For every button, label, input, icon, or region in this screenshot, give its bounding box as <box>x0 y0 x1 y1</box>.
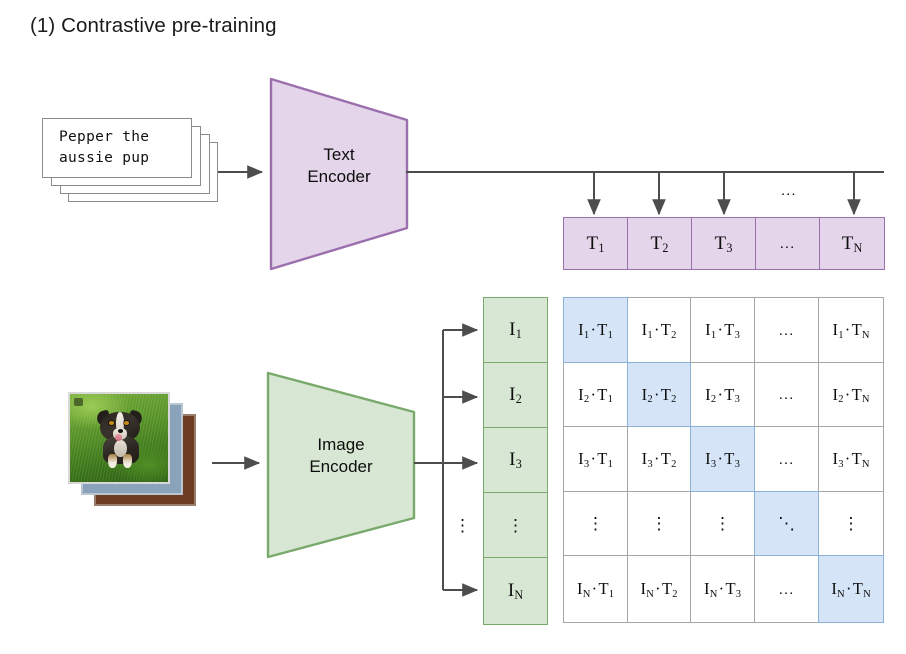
matrix-cell-glyph: ... <box>779 322 795 339</box>
dog-leg-left <box>108 454 117 468</box>
matrix-cell-label: IN·T2 <box>640 579 677 599</box>
matrix-cell-r5-c1[interactable]: IN·T1 <box>563 555 628 623</box>
page-title: (1) Contrastive pre-training <box>30 14 277 38</box>
dog-eye-left <box>109 421 114 425</box>
matrix-cell-glyph: ⋮ <box>587 515 604 532</box>
image-encoder-label: Image Encoder <box>265 434 417 478</box>
text-embedding-label-1: T1 <box>587 233 605 255</box>
matrix-cell-r2-c2[interactable]: I2·T2 <box>627 362 691 427</box>
text-embedding-cell-3[interactable]: T3 <box>691 217 756 270</box>
text-embedding-ellipsis: ... <box>780 235 796 252</box>
photo-corner-shadow <box>74 398 83 406</box>
matrix-cell-label: I2·T3 <box>705 385 740 405</box>
image-embedding-label-n: IN <box>508 580 523 602</box>
image-embedding-cell-3[interactable]: I3 <box>483 427 548 493</box>
matrix-cell-r1-c3[interactable]: I1·T3 <box>690 297 755 363</box>
matrix-cell-r3-c4[interactable]: ... <box>754 426 819 492</box>
dog-nose <box>118 429 123 433</box>
matrix-cell-r4-c1[interactable]: ⋮ <box>563 491 628 556</box>
matrix-cell-label: I1·T1 <box>578 320 613 340</box>
matrix-cell-label: IN·TN <box>831 579 870 599</box>
image-photo-stack <box>68 392 208 512</box>
matrix-cell-r2-c5[interactable]: I2·TN <box>818 362 884 427</box>
matrix-cell-label: I3·T1 <box>578 449 613 469</box>
matrix-cell-r3-c3[interactable]: I3·T3 <box>690 426 755 492</box>
matrix-cell-label: I3·TN <box>832 449 869 469</box>
matrix-cell-r3-c1[interactable]: I3·T1 <box>563 426 628 492</box>
matrix-cell-glyph: ... <box>779 451 795 468</box>
matrix-cell-label: I2·T1 <box>578 385 613 405</box>
matrix-cell-r2-c3[interactable]: I2·T3 <box>690 362 755 427</box>
text-embedding-cell-n[interactable]: TN <box>819 217 885 270</box>
matrix-cell-label: I2·T2 <box>642 385 677 405</box>
matrix-cell-glyph: ⋱ <box>778 515 795 532</box>
matrix-cell-glyph: ⋮ <box>843 515 860 532</box>
dog-photo-scene <box>70 394 168 482</box>
matrix-cell-r3-c2[interactable]: I3·T2 <box>627 426 691 492</box>
image-embedding-cell-ellipsis: ⋮ <box>483 492 548 558</box>
caption-line-2: aussie pup <box>59 150 149 166</box>
image-embedding-label-1: I1 <box>509 319 522 341</box>
image-embedding-label-3: I3 <box>509 449 522 471</box>
matrix-cell-label: I3·T3 <box>705 449 740 469</box>
caption-card-front: Pepper theaussie pup <box>42 118 192 178</box>
text-embedding-cell-ellipsis: ... <box>755 217 820 270</box>
image-bus-vertical-ellipsis: ⋮ <box>454 516 471 536</box>
text-embedding-label-3: T3 <box>715 233 733 255</box>
text-embedding-label-n: TN <box>842 233 863 255</box>
dog-tongue <box>115 434 122 441</box>
matrix-cell-label: I1·T2 <box>642 320 677 340</box>
image-embedding-cell-n[interactable]: IN <box>483 557 548 625</box>
matrix-cell-r4-c5[interactable]: ⋮ <box>818 491 884 556</box>
caption-line-1: Pepper the <box>59 129 149 145</box>
text-embedding-cell-1[interactable]: T1 <box>563 217 628 270</box>
photo-card-front-dog <box>68 392 170 484</box>
dog-eye-right <box>124 421 129 425</box>
caption-text: Pepper theaussie pup <box>43 127 149 168</box>
image-embedding-cell-2[interactable]: I2 <box>483 362 548 428</box>
matrix-cell-r5-c3[interactable]: IN·T3 <box>690 555 755 623</box>
diagram-canvas: (1) Contrastive pre-training Pepper thea… <box>0 0 906 654</box>
text-embedding-label-2: T2 <box>651 233 669 255</box>
matrix-cell-label: I1·TN <box>832 320 869 340</box>
image-embedding-label-2: I2 <box>509 384 522 406</box>
text-embedding-cell-2[interactable]: T2 <box>627 217 692 270</box>
image-encoder[interactable]: Image Encoder <box>265 370 417 560</box>
dog-leg-right <box>123 454 132 468</box>
matrix-cell-label: IN·T3 <box>704 579 741 599</box>
matrix-cell-r1-c1[interactable]: I1·T1 <box>563 297 628 363</box>
text-encoder[interactable]: Text Encoder <box>268 76 410 272</box>
image-embedding-cell-1[interactable]: I1 <box>483 297 548 363</box>
bus-fanout-ellipsis: ... <box>781 182 797 199</box>
image-embedding-ellipsis: ⋮ <box>507 517 524 534</box>
matrix-cell-r2-c1[interactable]: I2·T1 <box>563 362 628 427</box>
matrix-cell-label: I1·T3 <box>705 320 740 340</box>
matrix-cell-r5-c5[interactable]: IN·TN <box>818 555 884 623</box>
matrix-cell-label: I2·TN <box>832 385 869 405</box>
matrix-cell-r5-c2[interactable]: IN·T2 <box>627 555 691 623</box>
matrix-cell-r3-c5[interactable]: I3·TN <box>818 426 884 492</box>
matrix-cell-r2-c4[interactable]: ... <box>754 362 819 427</box>
matrix-cell-r5-c4[interactable]: ... <box>754 555 819 623</box>
matrix-cell-glyph: ... <box>779 581 795 598</box>
matrix-cell-glyph: ⋮ <box>651 515 668 532</box>
matrix-cell-r1-c4[interactable]: ... <box>754 297 819 363</box>
matrix-cell-glyph: ... <box>779 386 795 403</box>
matrix-cell-r4-c4[interactable]: ⋱ <box>754 491 819 556</box>
caption-card-stack: Pepper theaussie pup <box>42 118 232 218</box>
matrix-cell-label: I3·T2 <box>642 449 677 469</box>
text-encoder-label: Text Encoder <box>268 144 410 188</box>
matrix-cell-r1-c5[interactable]: I1·TN <box>818 297 884 363</box>
matrix-cell-glyph: ⋮ <box>714 515 731 532</box>
matrix-cell-r1-c2[interactable]: I1·T2 <box>627 297 691 363</box>
matrix-cell-label: IN·T1 <box>577 579 614 599</box>
matrix-cell-r4-c2[interactable]: ⋮ <box>627 491 691 556</box>
matrix-cell-r4-c3[interactable]: ⋮ <box>690 491 755 556</box>
